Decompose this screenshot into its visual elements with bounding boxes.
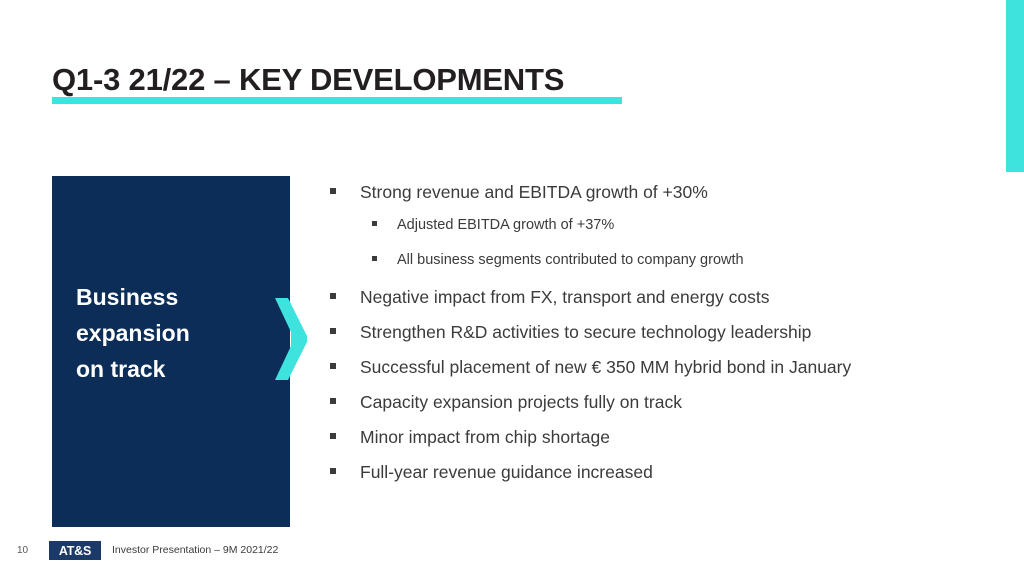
list-item: Capacity expansion projects fully on tra… [330,392,970,427]
list-item: Full-year revenue guidance increased [330,462,970,497]
chevron-right-icon [275,298,307,380]
list-item: Negative impact from FX, transport and e… [330,287,970,322]
list-item-label: Adjusted EBITDA growth of +37% [397,217,614,233]
bullet-square-icon [372,221,377,226]
list-item: Successful placement of new € 350 MM hyb… [330,357,970,392]
list-item-label: Strengthen R&D activities to secure tech… [360,322,811,343]
list-item: Strong revenue and EBITDA growth of +30% [330,182,970,217]
bullet-square-icon [372,256,377,261]
list-item: Strengthen R&D activities to secure tech… [330,322,970,357]
list-item-label: Full-year revenue guidance increased [360,462,653,483]
footer-caption: Investor Presentation – 9M 2021/22 [112,544,278,556]
accent-bar [1006,0,1024,172]
list-item: Minor impact from chip shortage [330,427,970,462]
page-title: Q1-3 21/22 – KEY DEVELOPMENTS [52,62,564,98]
list-item-label: All business segments contributed to com… [397,252,744,268]
bullet-square-icon [330,293,336,299]
bullet-square-icon [330,468,336,474]
list-item: Adjusted EBITDA growth of +37% [330,217,970,252]
bullet-square-icon [330,328,336,334]
bullet-square-icon [330,398,336,404]
bullet-square-icon [330,188,336,194]
title-underline [52,97,622,104]
list-item-label: Negative impact from FX, transport and e… [360,287,769,308]
callout-heading: Business expansion on track [76,279,276,387]
list-item-label: Minor impact from chip shortage [360,427,610,448]
page-number: 10 [17,545,28,556]
bullet-square-icon [330,433,336,439]
list-item-label: Successful placement of new € 350 MM hyb… [360,357,851,378]
company-logo: AT&S [49,541,101,560]
bullet-square-icon [330,363,336,369]
list-item-label: Capacity expansion projects fully on tra… [360,392,682,413]
bullet-list: Strong revenue and EBITDA growth of +30%… [330,182,970,497]
list-item: All business segments contributed to com… [330,252,970,287]
list-item-label: Strong revenue and EBITDA growth of +30% [360,182,708,203]
